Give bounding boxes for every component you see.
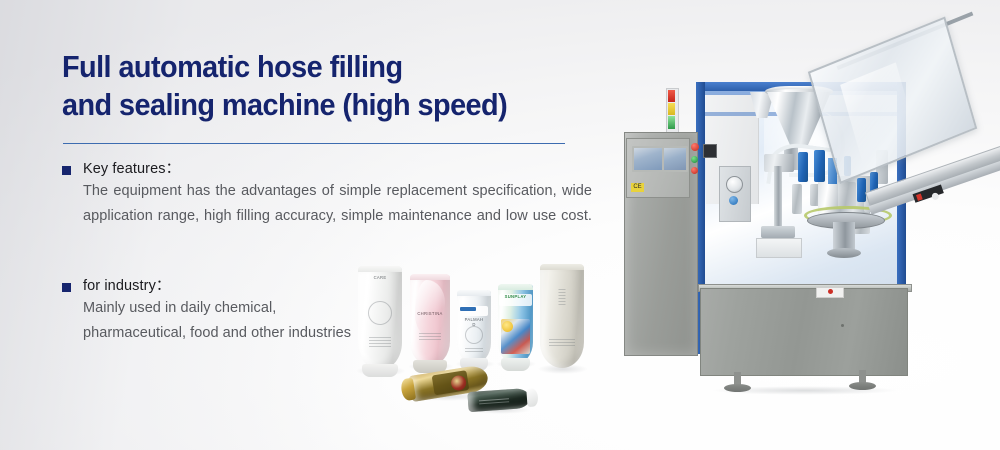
white-blue-tube: PALMAH D bbox=[457, 290, 491, 364]
product-tubes-group: CARE CHRISTINA bbox=[352, 256, 602, 418]
gauge-housing bbox=[719, 166, 751, 222]
tube-spf-badge bbox=[502, 321, 513, 332]
pneumatic-cylinder bbox=[798, 152, 808, 182]
title-divider bbox=[63, 143, 565, 144]
tube-text-lines bbox=[419, 331, 441, 342]
tube-seal bbox=[410, 274, 450, 280]
title-line-1: Full automatic hose filling bbox=[62, 49, 403, 84]
tube-cap bbox=[526, 388, 538, 407]
product-banner: Full automatic hose filling and sealing … bbox=[0, 0, 1000, 450]
machine-shadow bbox=[710, 386, 900, 395]
tube-text-lines bbox=[369, 335, 391, 349]
blue-indicator-knob bbox=[729, 196, 738, 205]
tube-text-lines bbox=[479, 396, 509, 406]
tube-text-lines bbox=[559, 287, 566, 307]
tube-text-lines bbox=[465, 346, 483, 354]
for-industry-heading-row: for industry： bbox=[62, 277, 362, 296]
tube-artwork bbox=[415, 280, 445, 337]
key-features-heading: Key features： bbox=[83, 160, 180, 179]
for-industry-body: Mainly used in daily chemical, pharmaceu… bbox=[83, 296, 362, 346]
pneumatic-cylinder bbox=[814, 150, 825, 182]
filling-foot bbox=[761, 226, 795, 238]
collection-tray bbox=[756, 238, 802, 258]
base-cabinet bbox=[700, 288, 908, 376]
for-industry-heading: for industry： bbox=[83, 277, 171, 296]
tube-emboss-icon bbox=[465, 326, 483, 344]
square-bullet-icon bbox=[62, 283, 71, 292]
tube-seal bbox=[358, 266, 402, 272]
ce-label: CE bbox=[631, 183, 644, 192]
stack-light-yellow bbox=[668, 103, 675, 115]
machine-part bbox=[792, 184, 802, 214]
section-for-industry: for industry： Mainly used in daily chemi… bbox=[62, 277, 362, 346]
tube-emboss-icon bbox=[368, 301, 392, 325]
tube-seal bbox=[457, 290, 491, 296]
list-item: CARE bbox=[358, 266, 402, 370]
list-item: CHRISTINA bbox=[410, 274, 450, 366]
section-key-features: Key features： The equipment has the adva… bbox=[62, 160, 592, 254]
green-blue-tube: SUNPLAY bbox=[498, 284, 533, 364]
list-item bbox=[540, 264, 584, 368]
square-bullet-icon bbox=[62, 166, 71, 175]
stack-light-red bbox=[668, 90, 675, 102]
list-item: SUNPLAY bbox=[498, 284, 533, 364]
tube-brand-label: CHRISTINA bbox=[417, 311, 442, 316]
tube-brand-bar bbox=[460, 307, 476, 311]
turret-base bbox=[827, 248, 861, 258]
white-tube: CARE bbox=[358, 266, 402, 370]
pressure-gauge bbox=[726, 176, 743, 193]
emergency-stop-button[interactable] bbox=[691, 143, 699, 151]
tube-brand-label: SUNPLAY bbox=[505, 294, 527, 299]
key-features-heading-row: Key features： bbox=[62, 160, 592, 179]
hmi-touchscreen-right[interactable] bbox=[662, 146, 688, 172]
title-line-2: and sealing machine (high speed) bbox=[62, 86, 620, 124]
tube-seal bbox=[498, 284, 533, 290]
page-title: Full automatic hose filling and sealing … bbox=[62, 48, 620, 124]
stack-light-green bbox=[668, 116, 675, 129]
machine-part bbox=[838, 182, 856, 208]
stop-button[interactable] bbox=[691, 167, 698, 174]
tube-cap bbox=[501, 358, 530, 371]
tube-text-lines bbox=[549, 337, 575, 348]
pneumatic-cylinder bbox=[857, 178, 866, 202]
ce-label-text: CE bbox=[631, 183, 644, 192]
machine-photo: CE bbox=[614, 26, 1000, 386]
beige-tube bbox=[540, 264, 584, 368]
start-button[interactable] bbox=[691, 156, 698, 163]
warning-label bbox=[816, 287, 844, 298]
pink-tube: CHRISTINA bbox=[410, 274, 450, 366]
hmi-touchscreen[interactable] bbox=[632, 146, 666, 172]
cabinet-door-handle[interactable] bbox=[841, 324, 844, 327]
tube-seal bbox=[540, 264, 584, 270]
key-features-body: The equipment has the advantages of simp… bbox=[83, 179, 592, 254]
filling-column bbox=[774, 166, 782, 232]
selector-switch[interactable] bbox=[703, 144, 717, 158]
tube-cap bbox=[362, 364, 399, 377]
tube-brand-label: CARE bbox=[374, 275, 387, 280]
list-item: PALMAH D bbox=[457, 290, 491, 364]
